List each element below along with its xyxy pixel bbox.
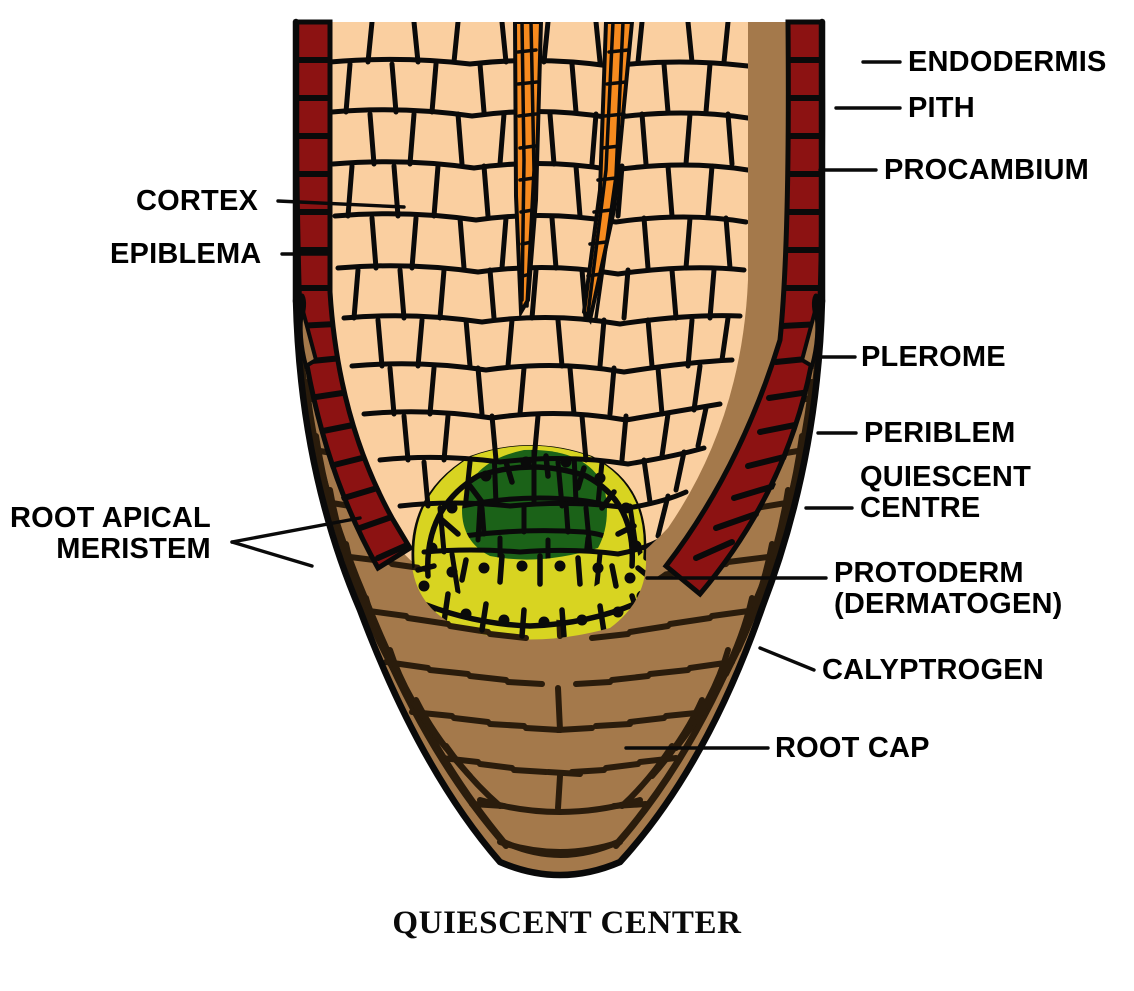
label-calyptrogen: CALYPTROGEN [822, 655, 1044, 686]
label-epiblema: EPIBLEMA [110, 239, 261, 270]
label-root-cap: ROOT CAP [775, 733, 930, 764]
figure-caption: QUIESCENT CENTER [0, 905, 1134, 942]
label-root-apical-meristem-line2: MERISTEM [10, 534, 211, 565]
label-procambium-line1: PROCAMBIUM [884, 154, 1089, 186]
root-tip-figure: ENDODERMISPITHPROCAMBIUMPLEROMEPERIBLEMQ… [0, 0, 1134, 991]
label-cortex-line1: CORTEX [136, 185, 258, 217]
label-cortex: CORTEX [136, 186, 258, 217]
label-endodermis-line1: ENDODERMIS [908, 46, 1107, 78]
label-root-apical-meristem-line1: ROOT APICAL [10, 502, 211, 534]
label-calyptrogen-line1: CALYPTROGEN [822, 654, 1044, 686]
label-plerome-line1: PLEROME [861, 341, 1006, 373]
label-pith: PITH [908, 93, 975, 124]
label-quiescent-centre: QUIESCENTCENTRE [860, 462, 1031, 525]
label-pith-line1: PITH [908, 92, 975, 124]
label-protoderm-line2: (DERMATOGEN) [834, 589, 1062, 620]
label-quiescent-centre-line1: QUIESCENT [860, 461, 1031, 493]
leader-calyptrogen [760, 648, 814, 670]
label-plerome: PLEROME [861, 342, 1006, 373]
label-periblem-line1: PERIBLEM [864, 417, 1015, 449]
label-protoderm: PROTODERM(DERMATOGEN) [834, 558, 1062, 621]
label-quiescent-centre-line2: CENTRE [860, 493, 1031, 524]
label-root-cap-line1: ROOT CAP [775, 732, 930, 764]
label-protoderm-line1: PROTODERM [834, 557, 1024, 589]
label-periblem: PERIBLEM [864, 418, 1015, 449]
label-epiblema-line1: EPIBLEMA [110, 238, 261, 270]
label-root-apical-meristem: ROOT APICALMERISTEM [10, 503, 211, 566]
label-procambium: PROCAMBIUM [884, 155, 1089, 186]
leader-root-apical-meristem-lower [232, 542, 312, 566]
label-endodermis: ENDODERMIS [908, 47, 1107, 78]
